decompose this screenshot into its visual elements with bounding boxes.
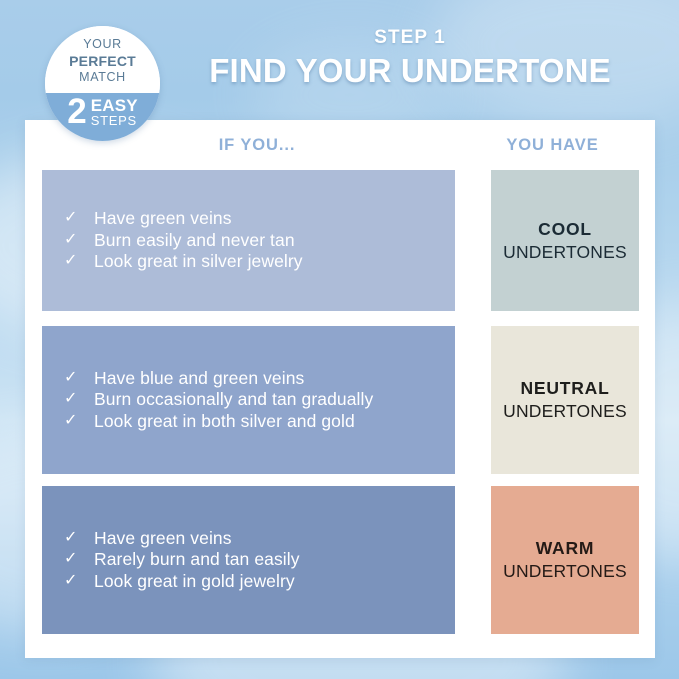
swatch-title: NEUTRAL [520,377,609,400]
trait-item: ✓ Have blue and green veins [64,368,441,389]
perfect-match-badge: YOUR PERFECT MATCH 2 EASY STEPS [45,26,160,141]
trait-label: Have green veins [94,528,441,549]
trait-item: ✓ Rarely burn and tan easily [64,549,441,570]
swatch-subtitle: UNDERTONES [503,400,627,423]
trait-item: ✓ Have green veins [64,208,441,229]
undertone-infographic: STEP 1 FIND YOUR UNDERTONE YOUR PERFECT … [0,0,679,679]
trait-label: Look great in both silver and gold [94,411,441,432]
check-icon: ✓ [64,389,94,409]
swatch-title: COOL [538,218,592,241]
undertone-swatch: NEUTRAL UNDERTONES [491,326,639,474]
badge-label-steps: STEPS [91,114,137,127]
check-icon: ✓ [64,411,94,431]
undertone-swatch: WARM UNDERTONES [491,486,639,634]
column-header-you-have: YOU HAVE [466,136,639,155]
undertone-row: ✓ Have green veins ✓ Rarely burn and tan… [42,486,639,634]
trait-item: ✓ Look great in silver jewelry [64,251,441,272]
header-block: STEP 1 FIND YOUR UNDERTONE [150,28,670,89]
swatch-subtitle: UNDERTONES [503,241,627,264]
trait-label: Burn occasionally and tan gradually [94,389,441,410]
trait-label: Burn easily and never tan [94,230,441,251]
page-title: FIND YOUR UNDERTONE [150,54,670,89]
swatch-title: WARM [536,537,595,560]
undertone-swatch: COOL UNDERTONES [491,170,639,311]
trait-label: Have green veins [94,208,441,229]
badge-top-half: YOUR PERFECT MATCH [45,26,160,93]
content-panel: IF YOU... YOU HAVE ✓ Have green veins ✓ … [25,120,655,658]
step-label: STEP 1 [150,28,670,49]
badge-step-count: 2 [67,96,86,128]
check-icon: ✓ [64,549,94,569]
check-icon: ✓ [64,528,94,548]
check-icon: ✓ [64,230,94,250]
trait-item: ✓ Have green veins [64,528,441,549]
badge-steps-wrap: EASY STEPS [91,95,138,127]
check-icon: ✓ [64,368,94,388]
trait-item: ✓ Burn easily and never tan [64,230,441,251]
trait-item: ✓ Look great in both silver and gold [64,411,441,432]
trait-label: Rarely burn and tan easily [94,549,441,570]
traits-box: ✓ Have green veins ✓ Rarely burn and tan… [42,486,455,634]
traits-box: ✓ Have blue and green veins ✓ Burn occas… [42,326,455,474]
trait-item: ✓ Burn occasionally and tan gradually [64,389,441,410]
badge-label-easy: EASY [91,97,138,114]
trait-label: Look great in gold jewelry [94,571,441,592]
badge-bottom-half: 2 EASY STEPS [45,93,160,141]
trait-label: Look great in silver jewelry [94,251,441,272]
check-icon: ✓ [64,571,94,591]
undertone-row: ✓ Have green veins ✓ Burn easily and nev… [42,170,639,311]
badge-line-perfect: PERFECT [69,53,136,71]
check-icon: ✓ [64,251,94,271]
badge-line-your: YOUR [83,37,122,53]
swatch-subtitle: UNDERTONES [503,560,627,583]
traits-box: ✓ Have green veins ✓ Burn easily and nev… [42,170,455,311]
undertone-row: ✓ Have blue and green veins ✓ Burn occas… [42,326,639,474]
badge-line-match: MATCH [79,70,126,86]
trait-label: Have blue and green veins [94,368,441,389]
check-icon: ✓ [64,208,94,228]
trait-item: ✓ Look great in gold jewelry [64,571,441,592]
